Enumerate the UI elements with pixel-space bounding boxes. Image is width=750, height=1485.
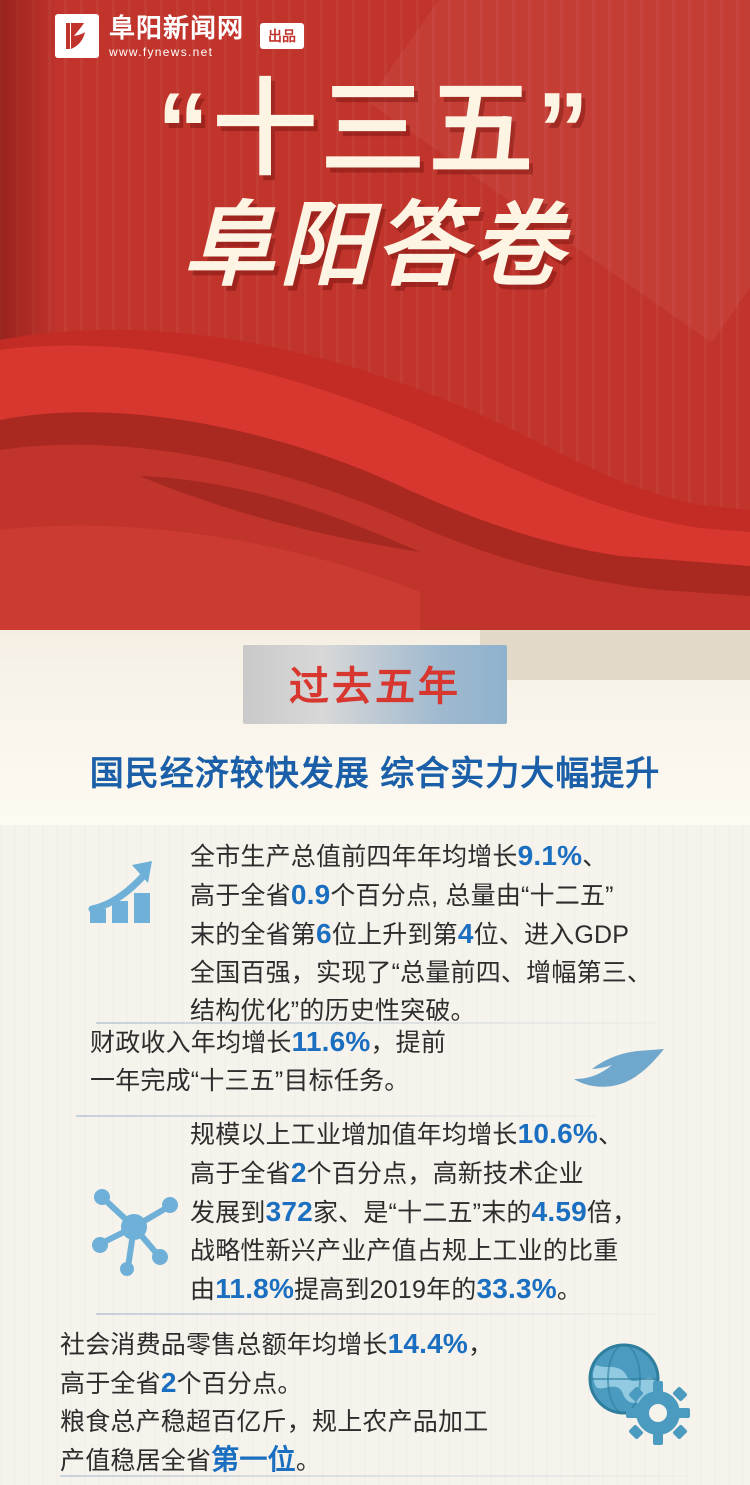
stat-item-gdp: 全市生产总值前四年年均增长9.1%、高于全省0.9个百分点, 总量由“十二五”末… bbox=[0, 837, 750, 1030]
section-pill-label: 过去五年 bbox=[243, 645, 507, 724]
stat-item-industry-text: 规模以上工业增加值年均增长10.6%、高于全省2个百分点，高新技术企业发展到37… bbox=[190, 1115, 730, 1309]
logo-text-block: 阜阳新闻网 www.fynews.net bbox=[109, 15, 244, 58]
text-line: 发展到372家、是“十二五”末的4.59倍， bbox=[190, 1193, 730, 1232]
stat-item-consumption-text: 社会消费品零售总额年均增长14.4%，高于全省2个百分点。粮食总产稳超百亿斤，规… bbox=[60, 1325, 560, 1480]
site-name: 阜阳新闻网 bbox=[109, 15, 244, 41]
text-line: 粮食总产稳超百亿斤，规上农产品加工 bbox=[60, 1403, 560, 1441]
stat-item-fiscal-text: 财政收入年均增长11.6%，提前一年完成“十三五”目标任务。 bbox=[90, 1023, 570, 1100]
stat-item-industry: 规模以上工业增加值年均增长10.6%、高于全省2个百分点，高新技术企业发展到37… bbox=[0, 1115, 750, 1309]
stat-item-gdp-text: 全市生产总值前四年年均增长9.1%、高于全省0.9个百分点, 总量由“十二五”末… bbox=[190, 837, 730, 1030]
red-ribbon-graphic bbox=[0, 300, 750, 630]
text-line: 高于全省2个百分点，高新技术企业 bbox=[190, 1154, 730, 1193]
text-line: 由11.8%提高到2019年的33.3%。 bbox=[190, 1270, 730, 1309]
hero-title-line1: “十三五” bbox=[0, 72, 750, 188]
section-subheading: 国民经济较快发展 综合实力大幅提升 bbox=[0, 746, 750, 795]
text-line: 社会消费品零售总额年均增长14.4%， bbox=[60, 1325, 560, 1364]
bottom-divider bbox=[60, 1475, 690, 1477]
molecule-network-icon bbox=[88, 1181, 184, 1282]
growth-bar-chart-arrow-icon bbox=[86, 851, 176, 936]
flame-logo-icon bbox=[55, 14, 99, 58]
globe-gear-icon bbox=[572, 1335, 702, 1470]
text-line: 全市生产总值前四年年均增长9.1%、 bbox=[190, 837, 730, 876]
text-line: 财政收入年均增长11.6%，提前 bbox=[90, 1023, 570, 1062]
stat-item-consumption: 社会消费品零售总额年均增长14.4%，高于全省2个百分点。粮食总产稳超百亿斤，规… bbox=[0, 1325, 750, 1480]
content-body: 全市生产总值前四年年均增长9.1%、高于全省0.9个百分点, 总量由“十二五”末… bbox=[0, 825, 750, 1485]
text-line: 战略性新兴产业产值占规上工业的比重 bbox=[190, 1232, 730, 1270]
hero-title-block: “十三五” 阜阳答卷 bbox=[0, 72, 750, 300]
hero-title-line2: 阜阳答卷 bbox=[0, 194, 750, 300]
text-line: 全国百强，实现了“总量前四、增幅第三、 bbox=[190, 954, 730, 992]
hero-banner: 阜阳新闻网 www.fynews.net 出品 “十三五” 阜阳答卷 bbox=[0, 0, 750, 630]
produced-by-badge: 出品 bbox=[260, 23, 304, 49]
stat-item-fiscal: 财政收入年均增长11.6%，提前一年完成“十三五”目标任务。 bbox=[0, 1023, 750, 1100]
hand-money-icon bbox=[566, 1039, 676, 1104]
text-line: 规模以上工业增加值年均增长10.6%、 bbox=[190, 1115, 730, 1154]
site-logo-bar: 阜阳新闻网 www.fynews.net 出品 bbox=[55, 14, 304, 58]
section-heading: 过去五年 国民经济较快发展 综合实力大幅提升 bbox=[0, 645, 750, 795]
text-line: 末的全省第6位上升到第4位、进入GDP bbox=[190, 915, 730, 954]
item-divider-3 bbox=[96, 1313, 656, 1315]
text-line: 高于全省2个百分点。 bbox=[60, 1364, 560, 1403]
site-url: www.fynews.net bbox=[109, 46, 244, 58]
text-line: 一年完成“十三五”目标任务。 bbox=[90, 1062, 570, 1100]
infographic-page: 阜阳新闻网 www.fynews.net 出品 “十三五” 阜阳答卷 过去五年 … bbox=[0, 0, 750, 1485]
text-line: 高于全省0.9个百分点, 总量由“十二五” bbox=[190, 876, 730, 915]
